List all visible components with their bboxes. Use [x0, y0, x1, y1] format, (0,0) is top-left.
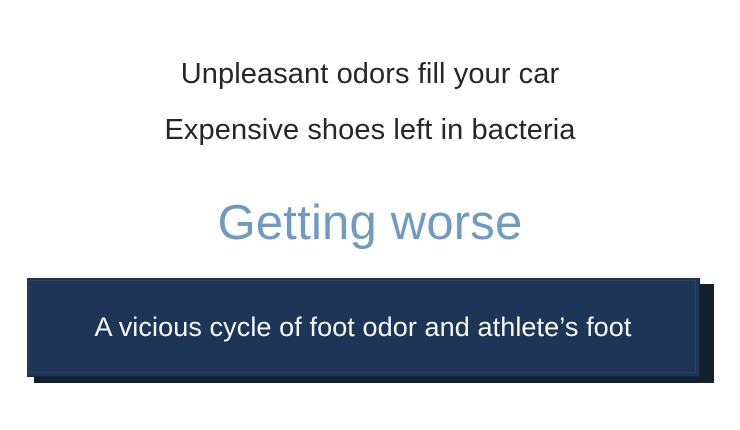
bullet-line-2: Expensive shoes left in bacteria — [0, 102, 740, 158]
banner-body: A vicious cycle of foot odor and athlete… — [27, 278, 700, 377]
accent-heading: Getting worse — [0, 192, 740, 254]
banner-text: A vicious cycle of foot odor and athlete… — [94, 310, 631, 344]
slide-canvas: Unpleasant odors fill your car Expensive… — [0, 0, 740, 430]
callout-banner: A vicious cycle of foot odor and athlete… — [27, 278, 714, 383]
bullet-list: Unpleasant odors fill your car Expensive… — [0, 46, 740, 158]
bullet-line-1: Unpleasant odors fill your car — [0, 46, 740, 102]
